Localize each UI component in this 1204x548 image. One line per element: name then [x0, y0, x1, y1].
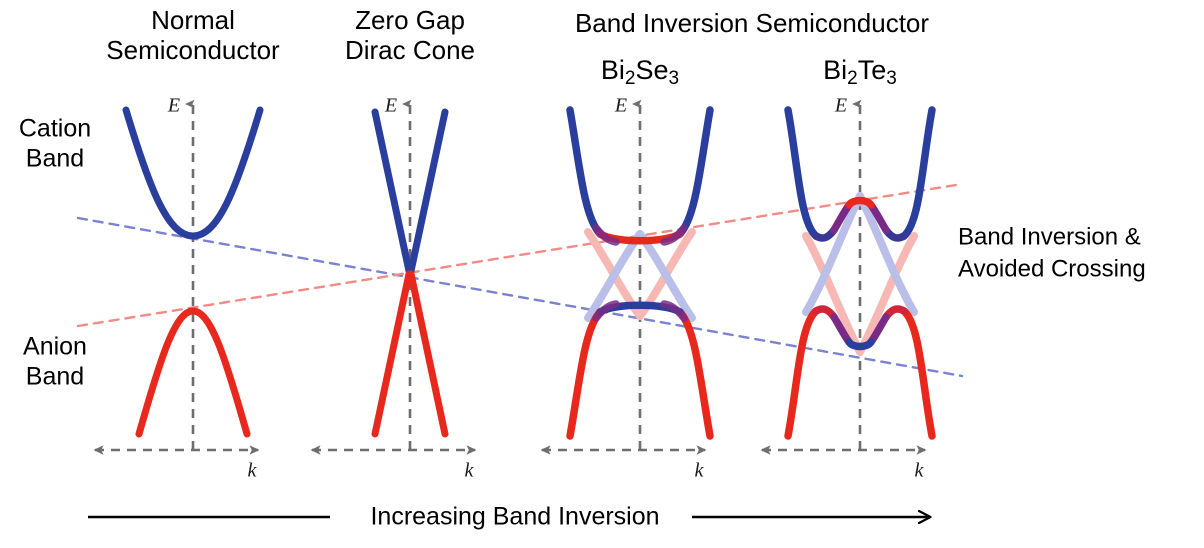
- conduction-band-left-arm-panel3: [570, 110, 600, 234]
- band-structure-diagram: E k E k E k: [0, 0, 1204, 548]
- cation-trend-dashed-line: [78, 218, 962, 376]
- title-zero-gap-dirac-cone-line2: Dirac Cone: [345, 35, 475, 65]
- energy-axis-label-panel1: E: [167, 95, 180, 117]
- valence-band-left-arm-panel4: [788, 311, 816, 436]
- momentum-axis-label-panel1: k: [248, 460, 258, 482]
- right-annotation: Band Inversion & Avoided Crossing: [958, 223, 1146, 282]
- energy-axis-label-panel2: E: [384, 95, 397, 117]
- momentum-axis-label-panel4: k: [915, 460, 925, 482]
- energy-axis-label-panel3: E: [614, 95, 627, 117]
- momentum-axis-label-panel2: k: [465, 460, 475, 482]
- bi2te3-prefix: Bi: [823, 55, 847, 85]
- panel-bi2te3: E k: [762, 95, 932, 482]
- bi2se3-sub1: 2: [625, 68, 636, 89]
- bi2se3-prefix: Bi: [601, 55, 625, 85]
- title-zero-gap-dirac-cone-line1: Zero Gap: [355, 5, 465, 35]
- valence-band-right-arm-panel3: [680, 312, 710, 436]
- bi2se3-mid: Se: [635, 55, 668, 85]
- label-band-inversion-avoided-crossing-line2: Avoided Crossing: [958, 255, 1146, 282]
- panel-bi2se3: E k: [542, 95, 710, 482]
- bottom-caption-text: Increasing Band Inversion: [370, 503, 659, 531]
- material-label-bi2te3: Bi2Te3: [823, 55, 897, 89]
- label-cation-band-line1: Cation: [19, 115, 91, 143]
- label-band-inversion-avoided-crossing-line1: Band Inversion &: [958, 223, 1141, 250]
- panel-zero-gap-dirac-cone: E k: [312, 95, 475, 482]
- title-band-inversion-semiconductor: Band Inversion Semiconductor: [575, 8, 929, 38]
- panel-titles: Normal Semiconductor Zero Gap Dirac Cone…: [106, 5, 929, 65]
- bi2se3-sub2: 3: [669, 68, 680, 89]
- title-normal-semiconductor-line1: Normal: [151, 5, 235, 35]
- label-cation-band-line2: Band: [26, 145, 84, 173]
- valence-band-right-arm-panel4: [904, 311, 932, 436]
- conduction-band-left-arm-panel4: [788, 110, 816, 236]
- band-inversion-figure: E k E k E k: [0, 0, 1204, 548]
- bi2te3-mid: Te: [858, 55, 887, 85]
- side-labels: Cation Band Anion Band: [19, 115, 91, 391]
- panel-normal-semiconductor: E k: [95, 95, 260, 482]
- material-formulas: Bi2Se3 Bi2Te3: [601, 55, 897, 89]
- material-label-bi2se3: Bi2Se3: [601, 55, 679, 89]
- conduction-band-right-arm-panel4: [904, 110, 932, 236]
- valence-band-center-dip-panel4: [849, 342, 871, 347]
- label-anion-band-line1: Anion: [23, 333, 87, 361]
- conduction-band-right-arm-panel3: [680, 110, 710, 234]
- momentum-axis-label-panel3: k: [695, 460, 705, 482]
- bottom-caption-group: Increasing Band Inversion: [88, 503, 930, 531]
- bi2te3-sub2: 3: [886, 68, 897, 89]
- valence-band-left-arm-panel3: [570, 312, 600, 436]
- energy-axis-label-panel4: E: [834, 95, 847, 117]
- bi2te3-sub1: 2: [847, 68, 858, 89]
- title-normal-semiconductor-line2: Semiconductor: [106, 35, 280, 65]
- label-anion-band-line2: Band: [26, 363, 84, 391]
